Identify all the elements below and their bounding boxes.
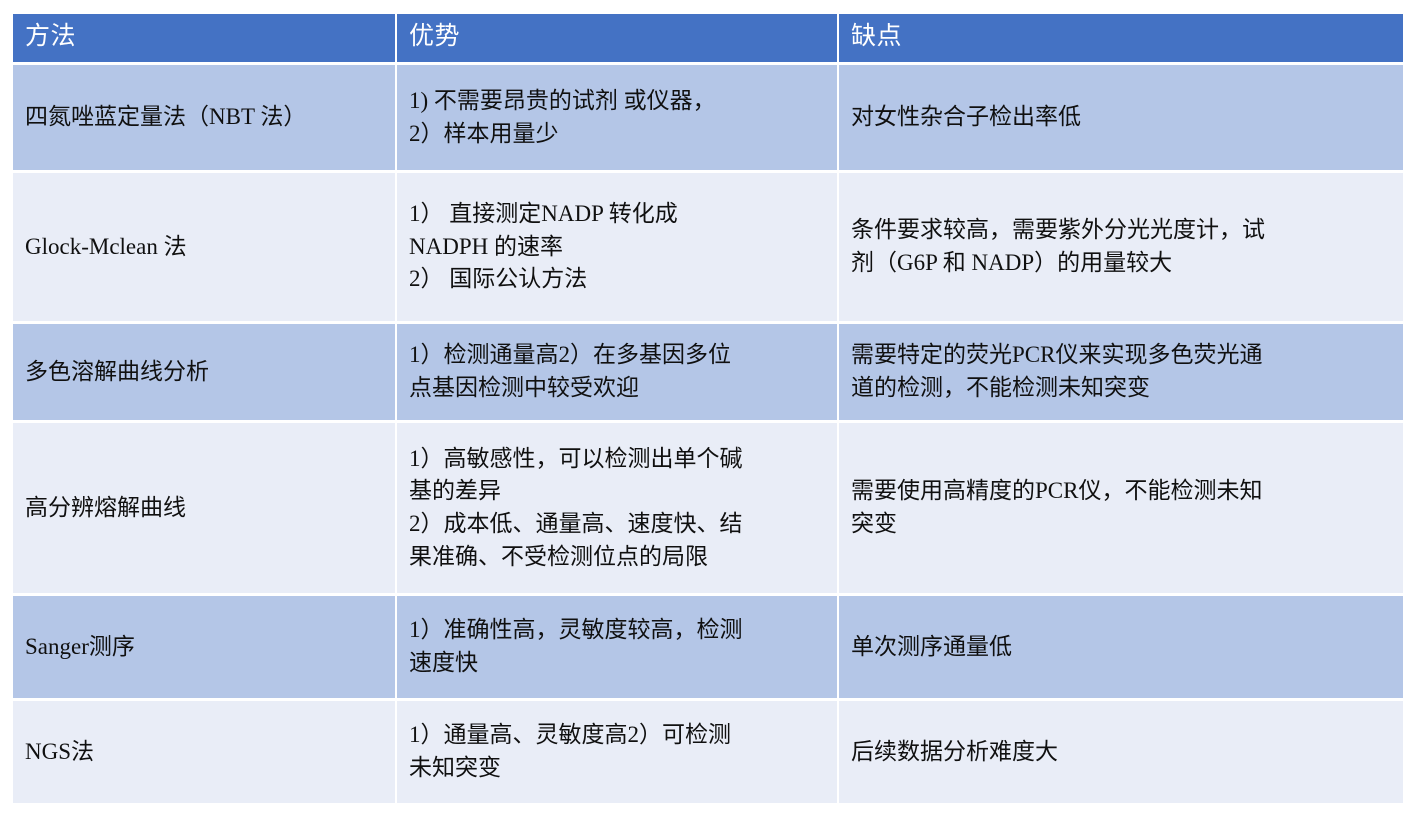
cell-line: 剂（G6P 和 NADP）的用量较大 [851,247,1391,280]
cell-disadvantages: 单次测序通量低 [839,596,1403,698]
cell-line: 点基因检测中较受欢迎 [409,372,825,405]
cell-method: Glock-Mclean 法 [13,173,395,321]
cell-method: NGS法 [13,701,395,803]
cell-line: 后续数据分析难度大 [851,736,1391,769]
cell-line: 多色溶解曲线分析 [25,356,383,389]
table-header: 方法 优势 缺点 [13,14,1403,62]
cell-line: 四氮唑蓝定量法（NBT 法） [25,101,383,134]
cell-line: 条件要求较高，需要紫外分光光度计，试 [851,214,1391,247]
cell-advantages: 1）准确性高，灵敏度较高，检测 速度快 [397,596,837,698]
cell-disadvantages: 需要特定的荧光PCR仪来实现多色荧光通 道的检测，不能检测未知突变 [839,324,1403,420]
cell-line: NADPH 的速率 [409,231,825,264]
cell-disadvantages: 条件要求较高，需要紫外分光光度计，试 剂（G6P 和 NADP）的用量较大 [839,173,1403,321]
table-row: NGS法 1）通量高、灵敏度高2）可检测 未知突变 后续数据分析难度大 [13,701,1403,803]
cell-line: 需要特定的荧光PCR仪来实现多色荧光通 [851,339,1391,372]
cell-advantages: 1） 直接测定NADP 转化成 NADPH 的速率 2） 国际公认方法 [397,173,837,321]
cell-method: 四氮唑蓝定量法（NBT 法） [13,65,395,170]
cell-advantages: 1) 不需要昂贵的试剂 或仪器， 2）样本用量少 [397,65,837,170]
cell-line: 1) 不需要昂贵的试剂 或仪器， [409,85,825,118]
cell-advantages: 1）高敏感性，可以检测出单个碱 基的差异 2）成本低、通量高、速度快、结 果准确… [397,423,837,593]
cell-line: 1） 直接测定NADP 转化成 [409,198,825,231]
cell-advantages: 1）通量高、灵敏度高2）可检测 未知突变 [397,701,837,803]
cell-line: 2）成本低、通量高、速度快、结 [409,508,825,541]
cell-line: 单次测序通量低 [851,631,1391,664]
table-row: 多色溶解曲线分析 1）检测通量高2）在多基因多位 点基因检测中较受欢迎 需要特定… [13,324,1403,420]
cell-line: NGS法 [25,736,383,769]
column-header-disadvantages: 缺点 [839,14,1403,62]
cell-line: Sanger测序 [25,631,383,664]
cell-line: 2）样本用量少 [409,118,825,151]
cell-line: 突变 [851,508,1391,541]
cell-advantages: 1）检测通量高2）在多基因多位 点基因检测中较受欢迎 [397,324,837,420]
cell-line: Glock-Mclean 法 [25,231,383,264]
cell-line: 道的检测，不能检测未知突变 [851,372,1391,405]
table-row: Glock-Mclean 法 1） 直接测定NADP 转化成 NADPH 的速率… [13,173,1403,321]
table-row: Sanger测序 1）准确性高，灵敏度较高，检测 速度快 单次测序通量低 [13,596,1403,698]
cell-method: 多色溶解曲线分析 [13,324,395,420]
table-row: 高分辨熔解曲线 1）高敏感性，可以检测出单个碱 基的差异 2）成本低、通量高、速… [13,423,1403,593]
cell-line: 1）通量高、灵敏度高2）可检测 [409,719,825,752]
cell-line: 1）检测通量高2）在多基因多位 [409,339,825,372]
cell-disadvantages: 需要使用高精度的PCR仪，不能检测未知 突变 [839,423,1403,593]
cell-line: 1）高敏感性，可以检测出单个碱 [409,443,825,476]
cell-line: 未知突变 [409,752,825,785]
cell-line: 需要使用高精度的PCR仪，不能检测未知 [851,475,1391,508]
cell-method: 高分辨熔解曲线 [13,423,395,593]
table-body: 四氮唑蓝定量法（NBT 法） 1) 不需要昂贵的试剂 或仪器， 2）样本用量少 … [13,65,1403,803]
column-header-advantages: 优势 [397,14,837,62]
cell-method: Sanger测序 [13,596,395,698]
cell-disadvantages: 后续数据分析难度大 [839,701,1403,803]
cell-line: 1）准确性高，灵敏度较高，检测 [409,614,825,647]
table-header-row: 方法 优势 缺点 [13,14,1403,62]
comparison-table-container: 方法 优势 缺点 四氮唑蓝定量法（NBT 法） 1) 不需要昂贵的试剂 或仪器，… [11,11,1403,806]
table-row: 四氮唑蓝定量法（NBT 法） 1) 不需要昂贵的试剂 或仪器， 2）样本用量少 … [13,65,1403,170]
cell-line: 高分辨熔解曲线 [25,492,383,525]
cell-line: 速度快 [409,647,825,680]
cell-line: 对女性杂合子检出率低 [851,101,1391,134]
column-header-method: 方法 [13,14,395,62]
cell-line: 基的差异 [409,475,825,508]
method-comparison-table: 方法 优势 缺点 四氮唑蓝定量法（NBT 法） 1) 不需要昂贵的试剂 或仪器，… [11,11,1405,806]
cell-disadvantages: 对女性杂合子检出率低 [839,65,1403,170]
cell-line: 2） 国际公认方法 [409,263,825,296]
cell-line: 果准确、不受检测位点的局限 [409,541,825,574]
